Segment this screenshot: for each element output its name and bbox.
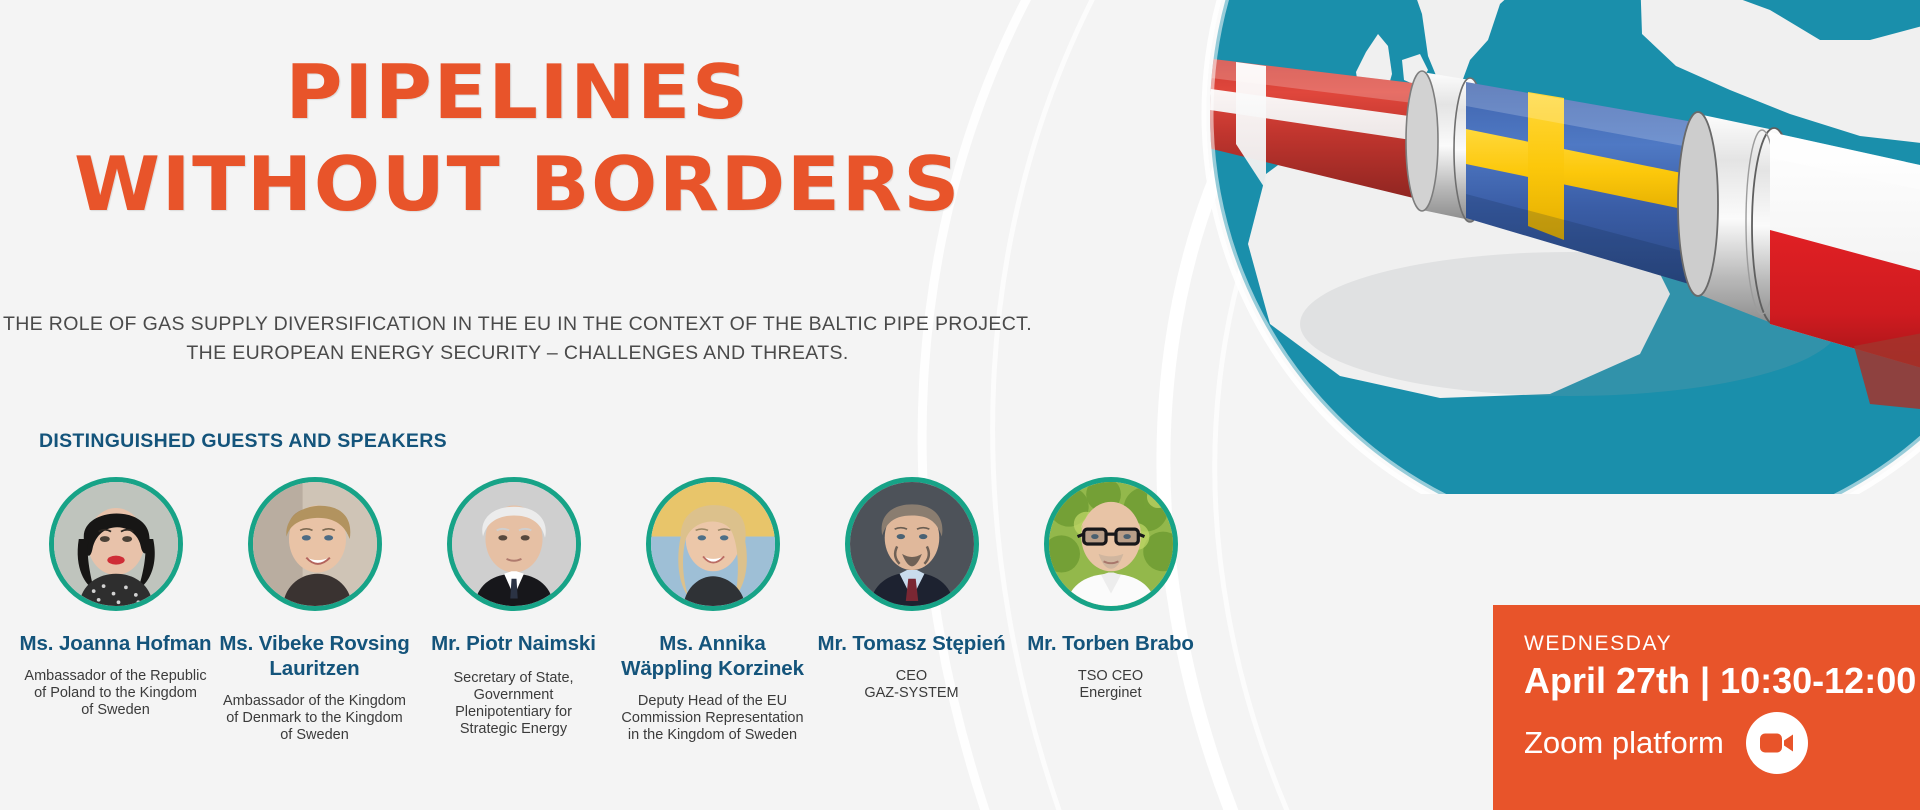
speaker-card: Ms. Vibeke Rovsing Lauritzen Ambassador … — [215, 477, 414, 744]
speaker-name: Mr. Tomasz Stępień — [817, 631, 1005, 656]
speaker-title: TSO CEO Energinet — [1078, 668, 1143, 702]
speaker-name: Ms. Joanna Hofman — [20, 631, 212, 656]
event-info-box: WEDNESDAY April 27th | 10:30-12:00 Zoom … — [1493, 605, 1920, 810]
speakers-list: Ms. Joanna Hofman Ambassador of the Repu… — [16, 477, 1541, 744]
speaker-name: Mr. Torben Brabo — [1027, 631, 1194, 656]
poster-root: PIPELINES WITHOUT BORDERS THE ROLE OF GA… — [0, 0, 1920, 810]
speaker-card: Mr. Piotr Naimski Secretary of State, Go… — [414, 477, 613, 744]
speaker-name: Mr. Piotr Naimski — [431, 631, 596, 656]
speaker-card: Ms. Annika Wäppling Korzinek Deputy Head… — [613, 477, 812, 744]
portrait-annika-wappling-korzinek — [646, 477, 780, 611]
portrait-torben-brabo — [1044, 477, 1178, 611]
title-line-1: PIPELINES — [0, 46, 1056, 138]
speaker-title: Deputy Head of the EU Commission Represe… — [621, 693, 803, 744]
speakers-section-heading: DISTINGUISHED GUESTS AND SPEAKERS — [39, 430, 447, 453]
speaker-title: Ambassador of the Republic of Poland to … — [24, 668, 206, 719]
speaker-card: Ms. Joanna Hofman Ambassador of the Repu… — [16, 477, 215, 744]
speaker-card: Mr. Torben Brabo TSO CEO Energinet — [1011, 477, 1210, 744]
video-camera-icon[interactable] — [1746, 712, 1808, 774]
baltic-pipe-illustration — [1170, 0, 1920, 494]
speaker-title: Secretary of State, Government Plenipote… — [453, 670, 573, 738]
speaker-title: Ambassador of the Kingdom of Denmark to … — [223, 693, 406, 744]
subtitle-line-1: THE ROLE OF GAS SUPPLY DIVERSIFICATION I… — [0, 310, 1035, 339]
speaker-card: Mr. Tomasz Stępień CEO GAZ-SYSTEM — [812, 477, 1011, 744]
event-platform-label: Zoom platform — [1524, 724, 1724, 762]
portrait-joanna-hofman — [49, 477, 183, 611]
event-date-time: April 27th | 10:30-12:00 — [1524, 658, 1920, 704]
portrait-piotr-naimski — [447, 477, 581, 611]
page-subtitle: THE ROLE OF GAS SUPPLY DIVERSIFICATION I… — [0, 310, 1035, 368]
speaker-name: Ms. Annika Wäppling Korzinek — [613, 631, 812, 681]
title-line-2: WITHOUT BORDERS — [0, 138, 1056, 230]
subtitle-line-2: THE EUROPEAN ENERGY SECURITY – CHALLENGE… — [0, 339, 1035, 368]
speaker-title: CEO GAZ-SYSTEM — [864, 668, 958, 702]
portrait-vibeke-rovsing-lauritzen — [248, 477, 382, 611]
speaker-name: Ms. Vibeke Rovsing Lauritzen — [215, 631, 414, 681]
page-title: PIPELINES WITHOUT BORDERS — [0, 46, 1035, 230]
portrait-tomasz-stepien — [845, 477, 979, 611]
event-day: WEDNESDAY — [1524, 632, 1920, 656]
event-platform-row: Zoom platform — [1524, 712, 1920, 774]
